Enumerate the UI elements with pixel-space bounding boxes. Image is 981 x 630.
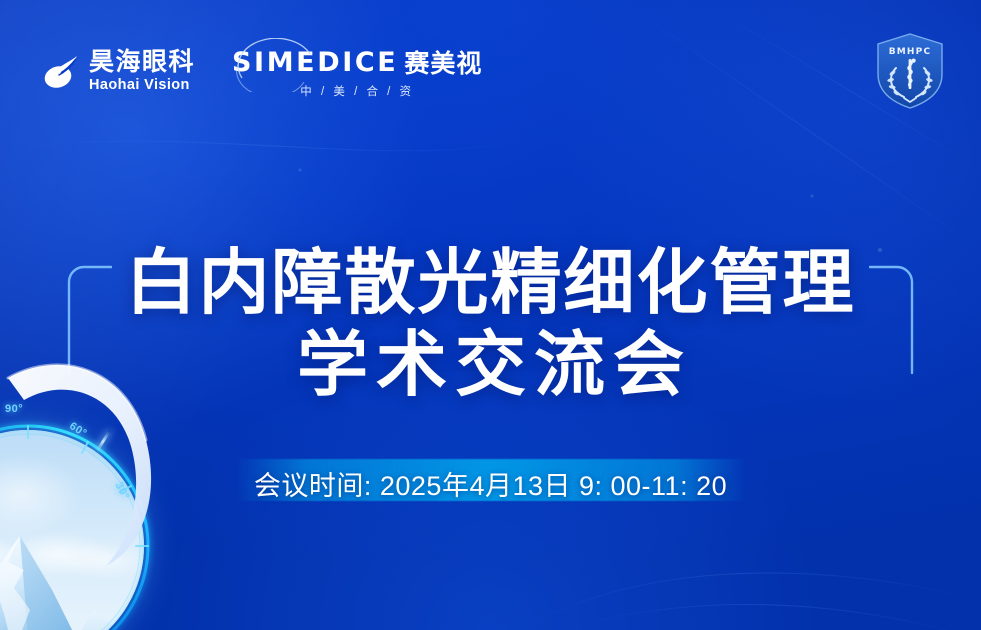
logo-haohai-en: Haohai Vision [89, 76, 195, 94]
logo-simedice: SIMEDICE 赛美视 中 / 美 / 合 / 资 [224, 44, 482, 99]
logo-haohai-cn: 昊海眼科 [89, 49, 195, 76]
conference-poster: 昊海眼科 Haohai Vision SIMEDICE 赛美视 中 / 美 / … [0, 0, 981, 630]
simedice-cn: 赛美视 [404, 44, 482, 80]
logo-haohai-vision: 昊海眼科 Haohai Vision [42, 49, 195, 94]
page-title-line-1: 白内障散光精细化管理 [0, 248, 981, 320]
astigmatism-axis-ring [0, 416, 158, 630]
degree-label-90: 90° [5, 403, 23, 415]
simedice-wordmark-row: SIMEDICE 赛美视 [232, 44, 482, 80]
poster-header: 昊海眼科 Haohai Vision SIMEDICE 赛美视 中 / 美 / … [0, 0, 981, 122]
iol-lens-graphic: 150° 120° 90° 60° 30° [0, 358, 276, 630]
simedice-subtitle: 中 / 美 / 合 / 资 [300, 83, 414, 99]
logo-group: 昊海眼科 Haohai Vision SIMEDICE 赛美视 中 / 美 / … [42, 44, 482, 99]
bmhpc-shield-badge: BMHPC [874, 32, 946, 110]
eye-swoosh-icon [42, 52, 80, 92]
badge-text: BMHPC [889, 47, 932, 57]
simedice-wordmark: SIMEDICE [232, 47, 398, 78]
